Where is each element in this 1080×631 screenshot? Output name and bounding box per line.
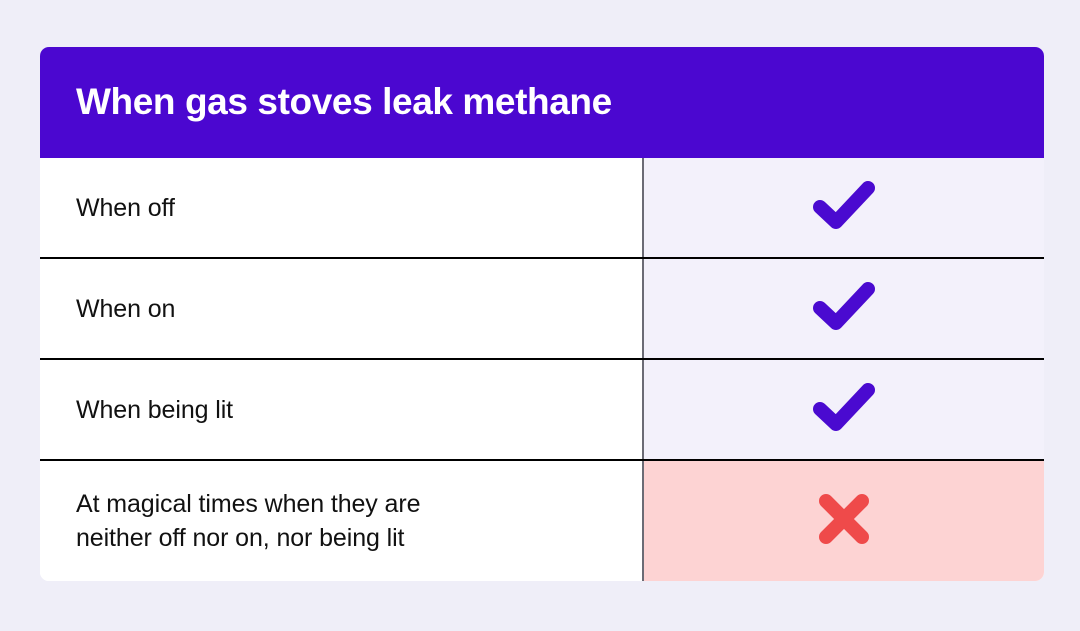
cross-icon (815, 490, 873, 553)
comparison-table: When off When on (40, 158, 1044, 581)
row-label: When being lit (76, 393, 233, 427)
table-row: At magical times when they are neither o… (40, 461, 1044, 581)
page-title: When gas stoves leak methane (76, 82, 612, 123)
row-mark-cell (644, 360, 1044, 459)
row-label-cell: When on (40, 259, 644, 358)
check-icon (812, 381, 876, 438)
table-row: When off (40, 158, 1044, 259)
check-icon (812, 280, 876, 337)
card-header: When gas stoves leak methane (40, 47, 1044, 158)
row-label-cell: At magical times when they are neither o… (40, 461, 644, 581)
row-mark-cell (644, 259, 1044, 358)
row-label-cell: When off (40, 158, 644, 257)
check-icon (812, 179, 876, 236)
row-label: When off (76, 191, 175, 225)
row-label-line-2: neither off nor on, nor being lit (76, 524, 404, 552)
row-label: At magical times when they are neither o… (76, 487, 420, 555)
row-mark-cell (644, 461, 1044, 581)
table-row: When on (40, 259, 1044, 360)
row-label: When on (76, 292, 175, 326)
row-label-cell: When being lit (40, 360, 644, 459)
row-mark-cell (644, 158, 1044, 257)
comparison-card: When gas stoves leak methane When off (40, 47, 1044, 581)
row-label-line-1: At magical times when they are (76, 490, 420, 518)
table-row: When being lit (40, 360, 1044, 461)
page-root: When gas stoves leak methane When off (0, 0, 1080, 631)
